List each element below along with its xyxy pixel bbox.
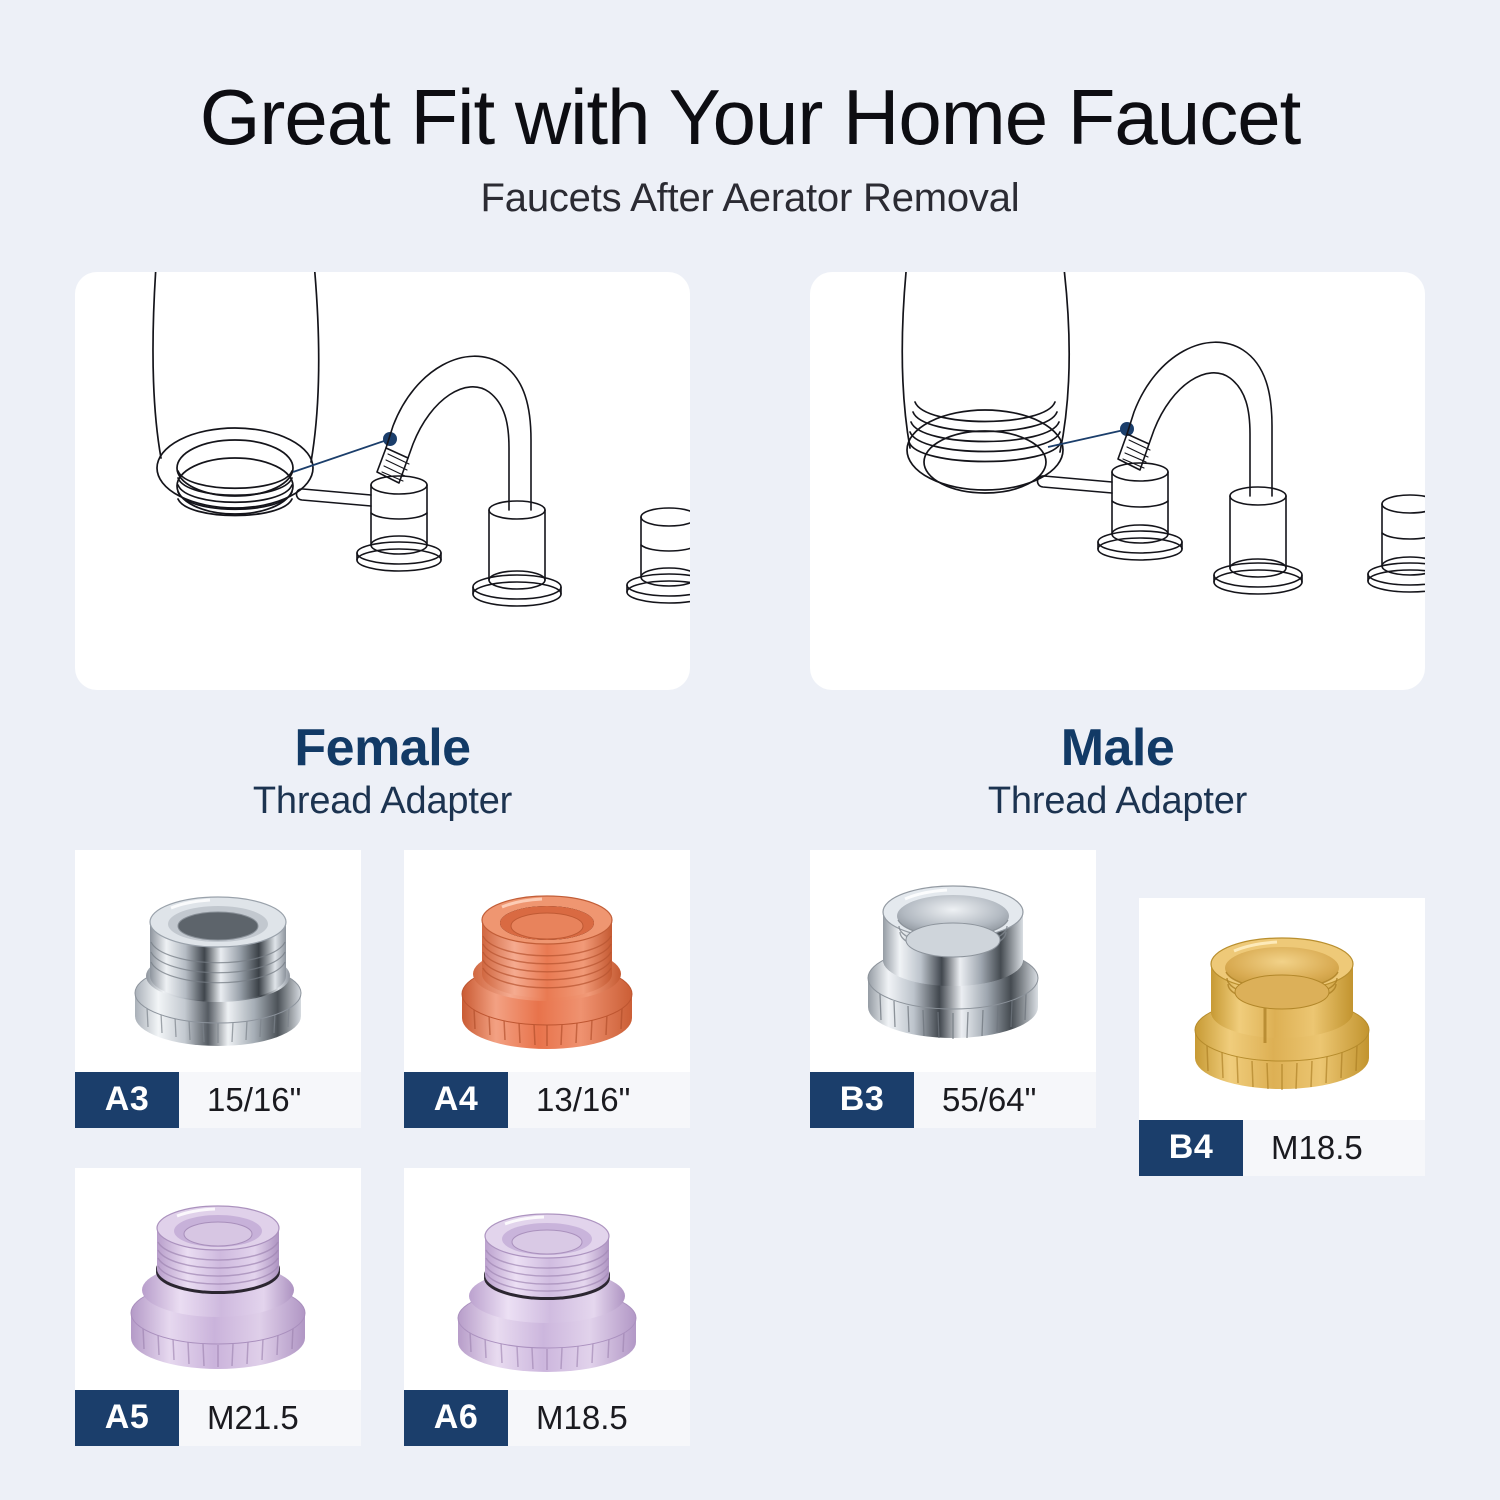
section-heading-male: Male Thread Adapter [988,720,1247,824]
page-subtitle: Faucets After Aerator Removal [0,176,1500,221]
product-size-label: 15/16" [179,1072,361,1128]
section-type-label: Male [988,720,1247,776]
product-code-badge: A6 [404,1390,508,1446]
product-caption: A4 13/16" [404,1072,690,1128]
product-size-label: M21.5 [179,1390,361,1446]
adapter-gold-female-thread-icon [1139,898,1425,1120]
product-code-badge: B4 [1139,1120,1243,1176]
section-desc-label: Thread Adapter [988,780,1247,824]
product-card[interactable]: A6 M18.5 [404,1168,690,1446]
product-code-badge: A4 [404,1072,508,1128]
product-caption: B4 M18.5 [1139,1120,1425,1176]
product-size-label: M18.5 [508,1390,690,1446]
product-size-label: 13/16" [508,1072,690,1128]
product-grid-female: A3 15/16" [75,850,690,1446]
section-female: Female Thread Adapter [75,272,690,1446]
product-caption: A5 M21.5 [75,1390,361,1446]
section-type-label: Female [253,720,512,776]
adapter-lavender-oring-icon [75,1168,361,1390]
section-male: Male Thread Adapter [810,272,1425,1446]
page-title: Great Fit with Your Home Faucet [0,78,1500,158]
product-caption: A3 15/16" [75,1072,361,1128]
product-code-badge: A5 [75,1390,179,1446]
product-caption: A6 M18.5 [404,1390,690,1446]
product-size-label: 55/64" [914,1072,1096,1128]
adapter-chrome-female-thread-icon [810,850,1096,1072]
faucet-male-thread-diagram [810,272,1425,690]
adapter-lavender-oring-icon [404,1168,690,1390]
product-card[interactable]: A3 15/16" [75,850,361,1128]
product-card[interactable]: A4 13/16" [404,850,690,1128]
faucet-female-thread-diagram [75,272,690,690]
product-code-badge: A3 [75,1072,179,1128]
section-desc-label: Thread Adapter [253,780,512,824]
product-card[interactable]: A5 M21.5 [75,1168,361,1446]
adapter-orange-male-thread-icon [404,850,690,1072]
page-header: Great Fit with Your Home Faucet Faucets … [0,0,1500,221]
product-grid-male: B3 55/64" [810,850,1425,1176]
product-caption: B3 55/64" [810,1072,1096,1128]
adapter-chrome-male-thread-icon [75,850,361,1072]
section-heading-female: Female Thread Adapter [253,720,512,824]
product-code-badge: B3 [810,1072,914,1128]
product-card[interactable]: B4 M18.5 [1139,898,1425,1176]
product-card[interactable]: B3 55/64" [810,850,1096,1176]
product-size-label: M18.5 [1243,1120,1425,1176]
adapter-sections: Female Thread Adapter [0,272,1500,1446]
